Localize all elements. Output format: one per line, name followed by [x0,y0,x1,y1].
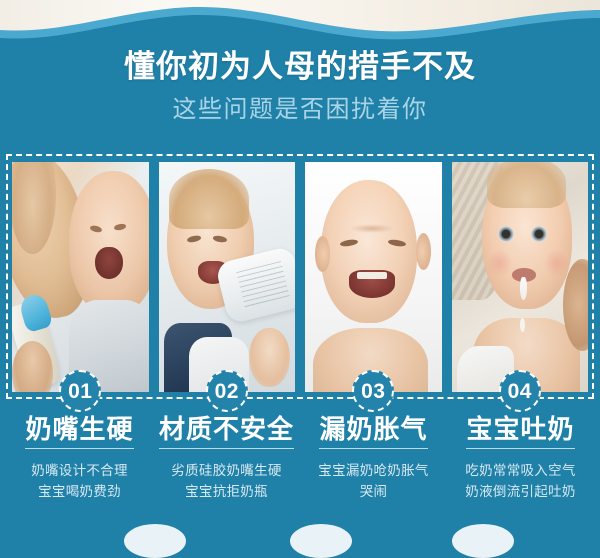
caption-row: 奶嘴生硬 奶嘴设计不合理 宝宝喝奶费劲 材质不安全 劣质硅胶奶嘴生硬 宝宝抗拒奶… [6,414,594,503]
page-title: 懂你初为人母的措手不及 [0,48,600,87]
bottom-shape-1 [124,524,186,558]
bottom-shape-3 [452,524,514,558]
caption-headline-01: 奶嘴生硬 [25,414,133,449]
caption-line: 宝宝抗拒奶瓶 [155,481,298,503]
header-text-block: 懂你初为人母的措手不及 这些问题是否困扰着你 [0,48,600,125]
caption-line: 宝宝喝奶费劲 [8,481,151,503]
photo-toddler-drinking-bottle [159,162,296,392]
caption-column-04: 宝宝吐奶 吃奶常常吸入空气 奶液倒流引起吐奶 [447,414,594,503]
caption-line: 奶液倒流引起吐奶 [449,481,592,503]
caption-line: 宝宝漏奶呛奶胀气 [302,460,445,482]
photo-crying-baby-white-bg [305,162,442,392]
number-badge-02[interactable]: 02 [206,370,248,412]
photo-cell-02[interactable] [159,162,296,392]
caption-headline-03: 漏奶胀气 [319,414,427,449]
caption-column-01: 奶嘴生硬 奶嘴设计不合理 宝宝喝奶费劲 [6,414,153,503]
caption-lines-04: 吃奶常常吸入空气 奶液倒流引起吐奶 [449,460,592,503]
caption-lines-02: 劣质硅胶奶嘴生硬 宝宝抗拒奶瓶 [155,460,298,503]
caption-lines-03: 宝宝漏奶呛奶胀气 哭闹 [302,460,445,503]
bottom-shape-2 [290,524,352,558]
number-badge-04[interactable]: 04 [499,370,541,412]
caption-headline-02: 材质不安全 [159,414,294,449]
caption-column-03: 漏奶胀气 宝宝漏奶呛奶胀气 哭闹 [300,414,447,503]
photo-mother-bottle-crying-baby [12,162,149,392]
top-wave-decoration [0,0,600,52]
number-badge-01[interactable]: 01 [59,370,101,412]
bottom-peeking-shapes [0,518,600,532]
photo-cell-04[interactable] [452,162,589,392]
photo-cell-03[interactable] [305,162,442,392]
photo-gallery [12,162,588,392]
caption-lines-01: 奶嘴设计不合理 宝宝喝奶费劲 [8,460,151,503]
caption-column-02: 材质不安全 劣质硅胶奶嘴生硬 宝宝抗拒奶瓶 [153,414,300,503]
caption-headline-04: 宝宝吐奶 [466,414,574,449]
caption-line: 哭闹 [302,481,445,503]
page-subtitle: 这些问题是否困扰着你 [0,94,600,125]
photo-cell-01[interactable] [12,162,149,392]
photo-baby-spitting-milk [452,162,589,392]
caption-line: 劣质硅胶奶嘴生硬 [155,460,298,482]
caption-line: 奶嘴设计不合理 [8,460,151,482]
number-badge-03[interactable]: 03 [352,370,394,412]
caption-line: 吃奶常常吸入空气 [449,460,592,482]
